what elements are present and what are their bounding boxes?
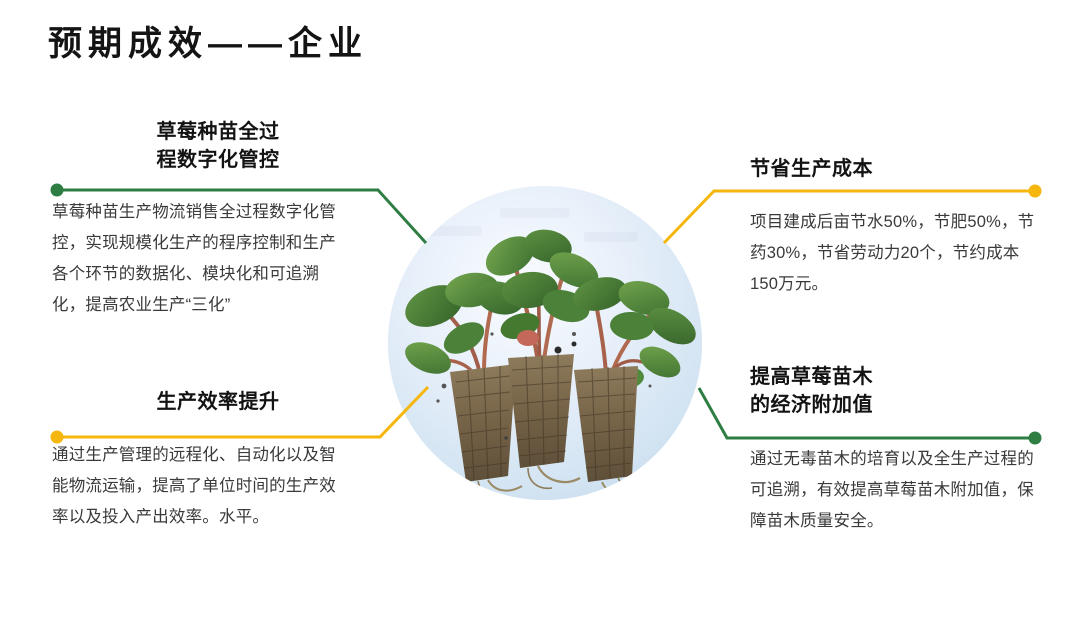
info-block-top-left: 草莓种苗全过 程数字化管控 草莓种苗生产物流销售全过程数字化管控，实现规模化生产… — [52, 118, 352, 321]
info-block-bottom-left-body: 通过生产管理的远程化、自动化以及智能物流运输，提高了单位时间的生产效率以及投入产… — [52, 440, 348, 533]
photo-illustration — [388, 186, 702, 500]
info-block-top-left-body: 草莓种苗生产物流销售全过程数字化管控，实现规模化生产的程序控制和生产各个环节的数… — [52, 197, 348, 321]
heading-line-1: 生产效率提升 — [90, 388, 346, 416]
info-block-top-right-body: 项目建成后亩节水50%，节肥50%，节药30%，节省劳动力20个，节约成本150… — [750, 207, 1036, 300]
heading-line-1: 节省生产成本 — [750, 155, 1030, 183]
heading-line-1: 提高草莓苗木 — [750, 363, 1030, 391]
info-block-top-right: 节省生产成本 项目建成后亩节水50%，节肥50%，节药30%，节省劳动力20个，… — [750, 155, 1050, 300]
page-title: 预期成效——企业 — [48, 22, 368, 66]
heading-line-2: 的经济附加值 — [750, 391, 1030, 419]
info-block-bottom-right-body: 通过无毒苗木的培育以及全生产过程的可追溯，有效提高草莓苗木附加值，保障苗木质量安… — [750, 444, 1040, 537]
info-block-bottom-left-heading: 生产效率提升 — [90, 388, 346, 416]
info-block-top-left-heading: 草莓种苗全过 程数字化管控 — [90, 118, 346, 174]
heading-line-2: 程数字化管控 — [90, 146, 346, 174]
info-block-bottom-right-heading: 提高草莓苗木 的经济附加值 — [750, 363, 1030, 419]
info-block-bottom-left: 生产效率提升 通过生产管理的远程化、自动化以及智能物流运输，提高了单位时间的生产… — [52, 388, 352, 533]
info-block-top-right-heading: 节省生产成本 — [750, 155, 1030, 183]
slide-root: 预期成效——企业 — [0, 0, 1080, 624]
heading-line-1: 草莓种苗全过 — [90, 118, 346, 146]
info-block-bottom-right: 提高草莓苗木 的经济附加值 通过无毒苗木的培育以及全生产过程的可追溯，有效提高草… — [750, 363, 1050, 537]
strawberry-seedlings-photo — [388, 186, 702, 500]
